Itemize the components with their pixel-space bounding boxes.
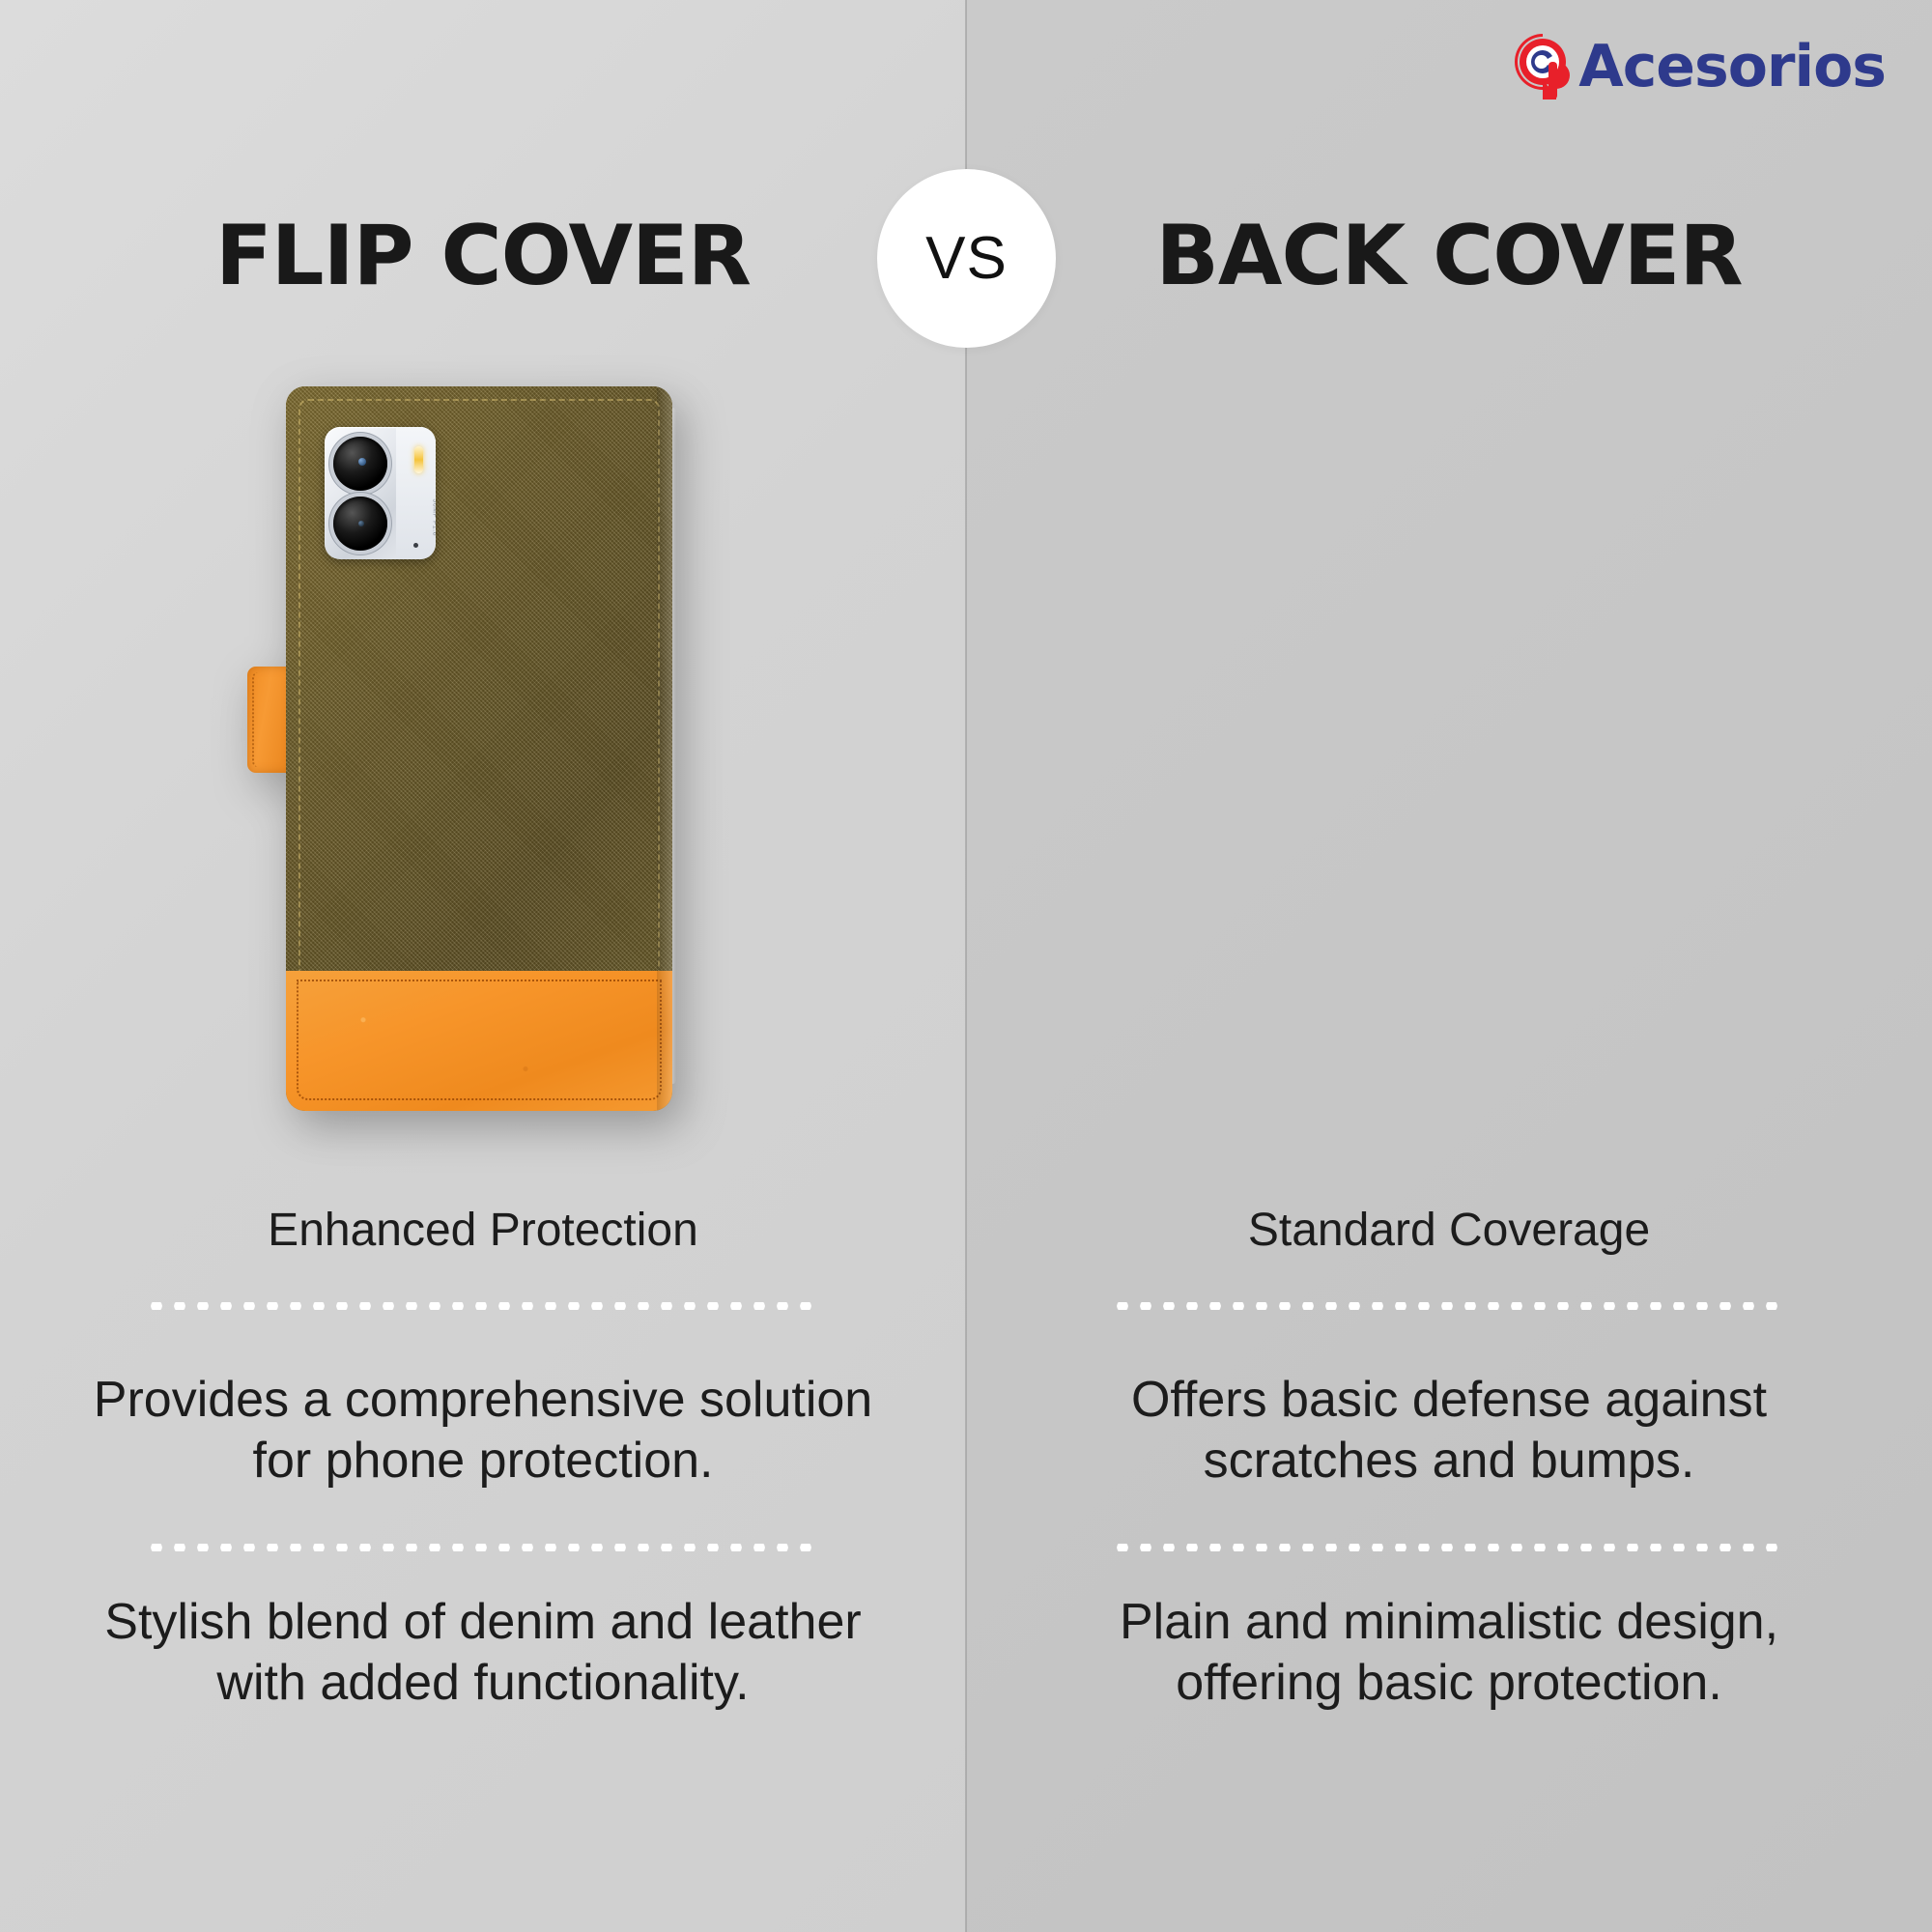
flip-cover-spine bbox=[657, 386, 672, 1111]
comparison-infographic: Acesorios FLIP COVER BACK COVER VS bbox=[0, 0, 1932, 1932]
microphone-icon bbox=[413, 543, 418, 548]
lens-reflection bbox=[358, 458, 366, 466]
flip-cover-phone-image: 50MP F1.8 bbox=[286, 386, 672, 1111]
vs-label: VS bbox=[925, 224, 1008, 293]
flip-cover-body: 50MP F1.8 bbox=[286, 386, 672, 1111]
camera-flash-icon bbox=[414, 446, 423, 473]
right-divider-1 bbox=[1111, 1302, 1787, 1310]
right-subtitle: Standard Coverage bbox=[966, 1206, 1932, 1257]
main-camera-lens-icon bbox=[333, 437, 387, 491]
left-divider-1 bbox=[145, 1302, 821, 1310]
left-subtitle: Enhanced Protection bbox=[0, 1206, 966, 1257]
camera-module-left: 50MP F1.8 bbox=[325, 427, 436, 559]
flip-cover-leather-panel bbox=[286, 971, 672, 1111]
vs-badge: VS bbox=[877, 169, 1056, 348]
camera-spec-label: 50MP F1.8 bbox=[432, 498, 436, 536]
left-divider-2 bbox=[145, 1544, 821, 1551]
right-divider-2 bbox=[1111, 1544, 1787, 1551]
secondary-camera-lens-icon bbox=[333, 497, 387, 551]
right-feature-1: Offers basic defense against scratches a… bbox=[1053, 1370, 1845, 1492]
lens-reflection bbox=[358, 521, 364, 526]
left-feature-1: Provides a comprehensive solution for ph… bbox=[87, 1370, 879, 1492]
right-feature-2: Plain and minimalistic design, offering … bbox=[1053, 1592, 1845, 1715]
left-feature-2: Stylish blend of denim and leather with … bbox=[87, 1592, 879, 1715]
